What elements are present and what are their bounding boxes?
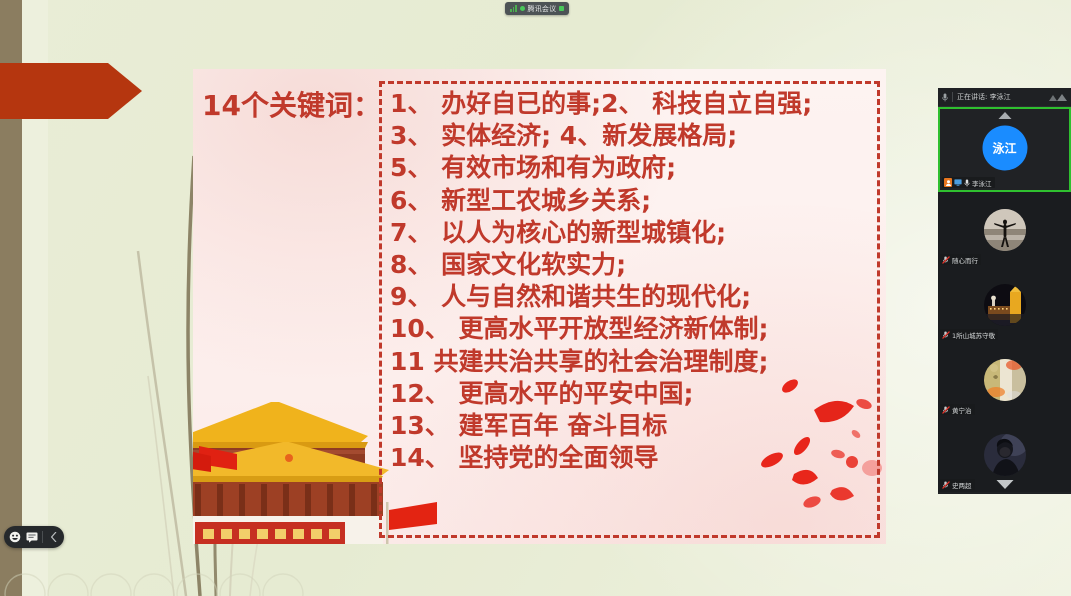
participant-tile[interactable]: 史两超: [938, 417, 1071, 492]
green-square-icon[interactable]: [559, 6, 564, 11]
emoji-reaction-icon[interactable]: [7, 530, 22, 544]
keyword-line: 8、 国家文化软实力;: [390, 249, 877, 281]
screen-share-icon: [954, 179, 962, 186]
avatar: [984, 434, 1026, 476]
participant-nametag: 史两超: [940, 479, 975, 490]
active-speaker-bar: 正在讲话: 李泳江: [938, 88, 1071, 107]
keyword-line: 12、 更高水平的平安中国;: [390, 378, 877, 410]
participant-tile[interactable]: 随心而行: [938, 192, 1071, 267]
participant-tile[interactable]: 黄宁治: [938, 342, 1071, 417]
participant-name: 黄宁治: [952, 405, 972, 415]
host-badge-icon: [944, 178, 952, 187]
chevron-down-icon[interactable]: [996, 480, 1013, 489]
slide-title: 14个关键词：: [202, 84, 381, 124]
participant-name: 史两超: [952, 480, 972, 490]
keyword-line: 1、 办好自已的事;2、 科技自立自强;: [390, 88, 877, 120]
red-arrow-banner: [0, 63, 142, 119]
keyword-line: 14、 坚持党的全面领导: [390, 442, 877, 474]
microphone-icon: [942, 93, 948, 102]
keyword-line: 10、 更高水平开放型经济新体制;: [390, 313, 877, 345]
chat-icon[interactable]: [24, 530, 39, 544]
keyword-line: 13、 建军百年 奋斗目标: [390, 410, 877, 442]
participants-panel[interactable]: 正在讲话: 李泳江 泳江 李泳江: [938, 88, 1071, 494]
green-status-dot: [520, 6, 525, 11]
participant-nametag: 随心而行: [940, 254, 981, 265]
avatar-initials: 泳江: [992, 139, 1016, 156]
keyword-line: 6、 新型工农城乡关系;: [390, 185, 877, 217]
keyword-line: 9、 人与自然和谐共生的现代化;: [390, 281, 877, 313]
participant-name: 随心而行: [952, 255, 978, 265]
microphone-icon: [964, 179, 970, 187]
chevron-left-icon[interactable]: [46, 530, 61, 544]
avatar: 泳江: [982, 125, 1027, 170]
meeting-name-label: 腾讯会议: [528, 4, 557, 14]
signal-bars-icon: [510, 5, 517, 12]
controls-divider: [42, 531, 43, 543]
shared-screen-slide: 14个关键词： 1、 办好自已的事;2、 科技自立自强; 3、 实体经济; 4、…: [193, 69, 886, 544]
keyword-line: 3、 实体经济; 4、新发展格局;: [390, 120, 877, 152]
keyword-line: 7、 以人为核心的新型城镇化;: [390, 217, 877, 249]
avatar: [984, 359, 1026, 401]
microphone-muted-icon: [942, 406, 950, 414]
bar-divider: [952, 92, 953, 102]
keyword-line: 5、 有效市场和有为政府;: [390, 152, 877, 184]
decorative-circles: [0, 554, 330, 596]
avatar: [984, 284, 1026, 326]
floating-controls[interactable]: [4, 526, 64, 548]
participant-nametag: 1所山城苏守敬: [940, 329, 998, 340]
chevron-up-icon[interactable]: [998, 112, 1011, 119]
participant-name: 1所山城苏守敬: [952, 330, 995, 340]
participant-name: 李泳江: [972, 178, 992, 188]
meeting-floating-bar[interactable]: 腾讯会议: [505, 2, 569, 15]
audio-wave-icon: [1049, 93, 1067, 102]
participant-tile-active[interactable]: 泳江 李泳江: [938, 107, 1071, 192]
microphone-muted-icon: [942, 331, 950, 339]
keyword-line: 11 共建共治共享的社会治理制度;: [390, 346, 877, 378]
keywords-dashed-box: 1、 办好自已的事;2、 科技自立自强; 3、 实体经济; 4、新发展格局; 5…: [379, 81, 880, 538]
microphone-muted-icon: [942, 481, 950, 489]
avatar: [984, 209, 1026, 251]
active-speaker-label: 正在讲话: 李泳江: [957, 92, 1011, 102]
participant-nametag: 李泳江: [942, 177, 995, 188]
participant-tile[interactable]: 1所山城苏守敬: [938, 267, 1071, 342]
microphone-muted-icon: [942, 256, 950, 264]
participant-nametag: 黄宁治: [940, 404, 975, 415]
